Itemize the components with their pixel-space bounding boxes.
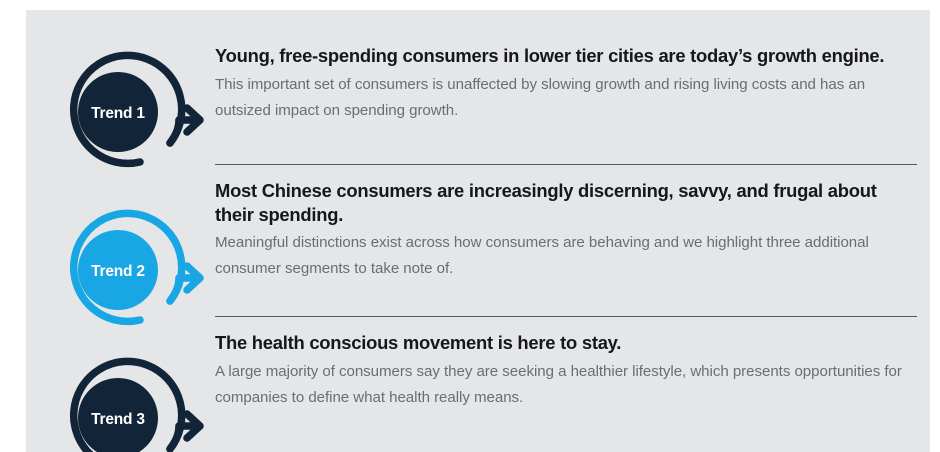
trend-3-icon: Trend 3	[48, 334, 208, 452]
trend-1-icon: Trend 1	[48, 28, 208, 188]
trends-panel: Trend 1 Young, free-spending consumers i…	[26, 10, 930, 452]
trend-text-block: Young, free-spending consumers in lower …	[215, 44, 920, 124]
trend-heading: Most Chinese consumers are increasingly …	[215, 179, 915, 226]
trend-badge-label: Trend 1	[91, 105, 145, 122]
trend-body: A large majority of consumers say they a…	[215, 359, 915, 411]
trend-2-icon: Trend 2	[48, 186, 208, 346]
trend-body: Meaningful distinctions exist across how…	[215, 230, 915, 282]
trend-badge-label: Trend 3	[91, 411, 145, 428]
section-divider	[215, 164, 917, 165]
section-divider	[215, 316, 917, 317]
trend-body: This important set of consumers is unaff…	[215, 72, 915, 124]
trend-heading: The health conscious movement is here to…	[215, 331, 915, 355]
trend-badge-label: Trend 2	[91, 263, 145, 280]
trend-text-block: The health conscious movement is here to…	[215, 316, 920, 411]
trend-heading: Young, free-spending consumers in lower …	[215, 44, 915, 68]
trend-text-block: Most Chinese consumers are increasingly …	[215, 164, 920, 282]
page-root: Trend 1 Young, free-spending consumers i…	[0, 0, 940, 452]
